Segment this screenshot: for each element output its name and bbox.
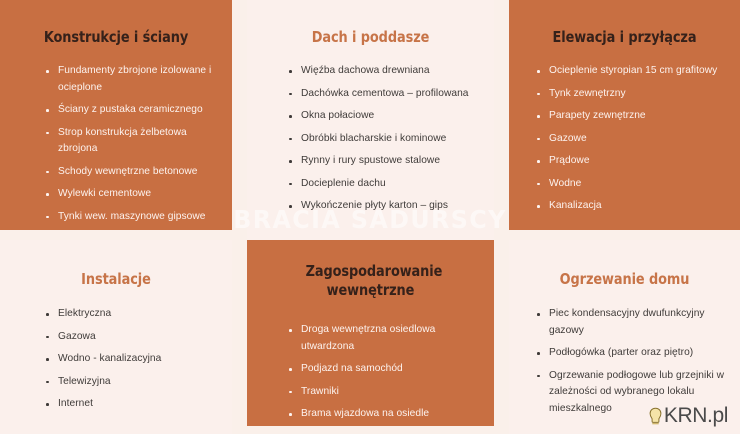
list-item: Rynny i rury spustowe stalowe (287, 153, 480, 170)
panel-title: Elewacja i przyłącza (525, 28, 724, 47)
list-item: Kanalizacja (535, 198, 726, 215)
list-item: Gazowa (44, 329, 218, 346)
panel-list: Elektryczna Gazowa Wodno - kanalizacyjna… (44, 306, 218, 419)
list-item: Elektryczna (44, 306, 218, 323)
list-item: Okna połaciowe (287, 108, 480, 125)
list-item: Podłogówka (parter oraz piętro) (535, 345, 728, 362)
list-item: Wylewki cementowe (44, 186, 218, 203)
list-item: Obróbki blacharskie i kominowe (287, 131, 480, 148)
panel-title: Zagospodarowanie wewnętrzne (264, 262, 476, 300)
list-item: Wodno - kanalizacyjna (44, 351, 218, 368)
panel-elewacja-i-przylacza: Elewacja i przyłącza Ocieplenie styropia… (509, 0, 740, 230)
list-item: Fundamenty zbrojone izolowane i ocieplon… (44, 63, 218, 96)
panel-zagospodarowanie-wewnetrzne: Zagospodarowanie wewnętrzne Droga wewnęt… (247, 240, 494, 426)
krn-logo-text: KRN.pl (664, 404, 728, 428)
panel-konstrukcje-i-sciany: Konstrukcje i ściany Fundamenty zbrojone… (0, 0, 232, 230)
list-item: Droga wewnętrzna osiedlowa utwardzona (287, 322, 480, 355)
panel-list: Droga wewnętrzna osiedlowa utwardzona Po… (287, 322, 480, 426)
list-item: Wykończenie płyty karton – gips (287, 198, 480, 215)
panel-instalacje: Instalacje Elektryczna Gazowa Wodno - ka… (0, 240, 232, 434)
list-item: Dachówka cementowa – profilowana (287, 86, 480, 103)
panel-list: Więźba dachowa drewniana Dachówka cement… (287, 63, 480, 221)
list-item: Gazowe (535, 131, 726, 148)
list-item: Prądowe (535, 153, 726, 170)
list-item: Brama wjazdowa na osiedle (287, 406, 480, 423)
list-item: Parapety zewnętrzne (535, 108, 726, 125)
bulb-icon (649, 407, 662, 426)
list-item: Schody wewnętrzne betonowe (44, 164, 218, 181)
infographic-board: Konstrukcje i ściany Fundamenty zbrojone… (0, 0, 740, 434)
panel-title: Ogrzewanie domu (525, 270, 724, 289)
list-item: Tynk zewnętrzny (535, 86, 726, 103)
list-item: Podjazd na samochód (287, 361, 480, 378)
list-item: Piec kondensacyjny dwufunkcyjny gazowy (535, 306, 728, 339)
list-item: Trawniki (287, 384, 480, 401)
list-item: Strop konstrukcja żelbetowa zbrojona (44, 125, 218, 158)
panel-list: Fundamenty zbrojone izolowane i ocieplon… (44, 63, 218, 230)
list-item: Wodne (535, 176, 726, 193)
list-item: Ocieplenie styropian 15 cm grafitowy (535, 63, 726, 80)
list-item: Więźba dachowa drewniana (287, 63, 480, 80)
panel-title: Instalacje (16, 270, 216, 289)
panel-title: Dach i poddasze (264, 28, 476, 47)
list-item: Docieplenie dachu (287, 176, 480, 193)
list-item: Ściany z pustaka ceramicznego (44, 102, 218, 119)
list-item: Tynki wew. maszynowe gipsowe (44, 209, 218, 226)
panel-dach-i-poddasze: Dach i poddasze Więźba dachowa drewniana… (247, 0, 494, 240)
krn-logo[interactable]: KRN.pl (649, 404, 728, 428)
panel-list: Ocieplenie styropian 15 cm grafitowy Tyn… (535, 63, 726, 221)
list-item: Telewizyjna (44, 374, 218, 391)
panel-title: Konstrukcje i ściany (16, 28, 216, 47)
list-item: Internet (44, 396, 218, 413)
